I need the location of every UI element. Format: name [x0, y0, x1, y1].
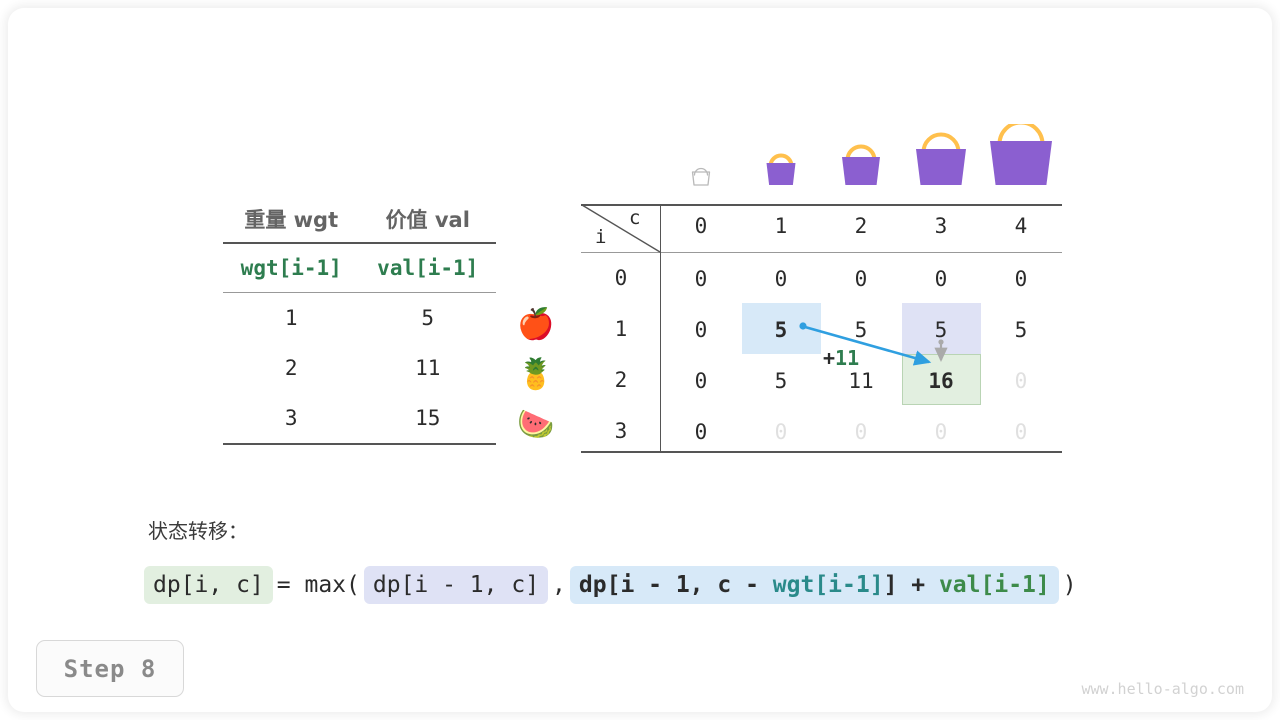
state-transition-formula: dp[i, c] = max( dp[i - 1, c] , dp[i - 1,… — [144, 566, 1081, 604]
item-value-2: 11 — [360, 343, 497, 393]
dp-col-header-2: 2 — [821, 214, 901, 238]
dp-row-header-1: 1 — [581, 317, 661, 341]
dp-table: c i 01234 0123 0000005555051116000000 — [581, 204, 1062, 452]
formula-arg-take: dp[i - 1, c - wgt[i-1]] + val[i-1] — [570, 566, 1059, 604]
item-table-header-row: 重量 wgt 价值 val — [223, 196, 496, 243]
dp-col-header-0: 0 — [661, 214, 741, 238]
dp-row-header-3: 3 — [581, 419, 661, 443]
item-table-header-value: 价值 val — [360, 196, 497, 243]
dp-col-header-1: 1 — [741, 214, 821, 238]
dp-cell-1-3: 5 — [901, 317, 981, 343]
formula-arg-take-mid: ] + — [884, 572, 939, 598]
table-row: 3 15 — [223, 393, 496, 444]
dp-table-bottom-rule — [581, 451, 1062, 453]
corner-label-i: i — [595, 226, 606, 248]
gain-label: +11 — [823, 346, 859, 370]
dp-cell-3-4: 0 — [981, 419, 1061, 445]
item-weight-value-table: 重量 wgt 价值 val wgt[i-1] val[i-1] 1 5 2 11… — [223, 196, 496, 445]
dp-col-header-3: 3 — [901, 214, 981, 238]
item-value-1: 5 — [360, 293, 497, 344]
formula-lhs: dp[i, c] — [144, 566, 273, 604]
item-table-subheader-row: wgt[i-1] val[i-1] — [223, 243, 496, 293]
corner-label-c: c — [629, 207, 640, 229]
dp-col-header-4: 4 — [981, 214, 1061, 238]
dp-cell-0-3: 0 — [901, 266, 981, 292]
step-badge: Step 8 — [36, 640, 184, 697]
bag-medium-icon — [821, 124, 901, 186]
dp-cell-0-1: 0 — [741, 266, 821, 292]
apple-icon: 🍎 — [514, 310, 558, 340]
corner-diagonal-divider — [581, 204, 661, 253]
dp-cell-2-4: 0 — [981, 368, 1061, 394]
dp-cell-0-2: 0 — [821, 266, 901, 292]
item-table-subheader-wgt: wgt[i-1] — [223, 243, 360, 293]
transition-heading: 状态转移： — [148, 515, 248, 544]
bag-large-icon — [901, 124, 981, 186]
formula-arg-take-prefix: dp[i - 1, c - — [579, 572, 773, 598]
gain-label-value: 11 — [835, 346, 859, 370]
dp-cell-3-1: 0 — [741, 419, 821, 445]
formula-token-wgt: wgt[i-1] — [773, 572, 884, 598]
formula-eq: = max( — [273, 572, 364, 598]
dp-cell-3-0: 0 — [661, 419, 741, 445]
bag-empty-icon — [661, 124, 741, 186]
dp-cell-1-0: 0 — [661, 317, 741, 343]
formula-close-paren: ) — [1059, 572, 1081, 598]
dp-cell-2-0: 0 — [661, 368, 741, 394]
dp-cell-2-3: 16 — [901, 368, 981, 394]
table-row: 1 5 — [223, 293, 496, 344]
table-row: 2 11 — [223, 343, 496, 393]
formula-token-val: val[i-1] — [939, 572, 1050, 598]
item-table-header-weight: 重量 wgt — [223, 196, 360, 243]
dp-cell-2-1: 5 — [741, 368, 821, 394]
item-table-subheader-val: val[i-1] — [360, 243, 497, 293]
dp-cell-3-2: 0 — [821, 419, 901, 445]
formula-arg-skip: dp[i - 1, c] — [364, 566, 548, 604]
item-weight-2: 2 — [223, 343, 360, 393]
bag-small-icon — [741, 124, 821, 186]
item-weight-3: 3 — [223, 393, 360, 444]
pineapple-icon: 🍍 — [514, 360, 558, 390]
dp-cell-1-4: 5 — [981, 317, 1061, 343]
dp-cell-2-2: 11 — [821, 368, 901, 394]
dp-cell-0-0: 0 — [661, 266, 741, 292]
watermark: www.hello-algo.com — [1081, 680, 1244, 698]
item-value-3: 15 — [360, 393, 497, 444]
slide-canvas: 重量 wgt 价值 val wgt[i-1] val[i-1] 1 5 2 11… — [8, 8, 1272, 712]
dp-cell-1-2: 5 — [821, 317, 901, 343]
gain-label-sign: + — [823, 346, 835, 370]
bag-xlarge-icon — [981, 124, 1061, 186]
dp-row-header-0: 0 — [581, 266, 661, 290]
dp-row-header-2: 2 — [581, 368, 661, 392]
dp-cell-1-1: 5 — [741, 317, 821, 343]
watermelon-icon: 🍉 — [514, 410, 558, 440]
item-weight-1: 1 — [223, 293, 360, 344]
formula-comma: , — [548, 572, 570, 598]
dp-cell-3-3: 0 — [901, 419, 981, 445]
dp-cell-0-4: 0 — [981, 266, 1061, 292]
